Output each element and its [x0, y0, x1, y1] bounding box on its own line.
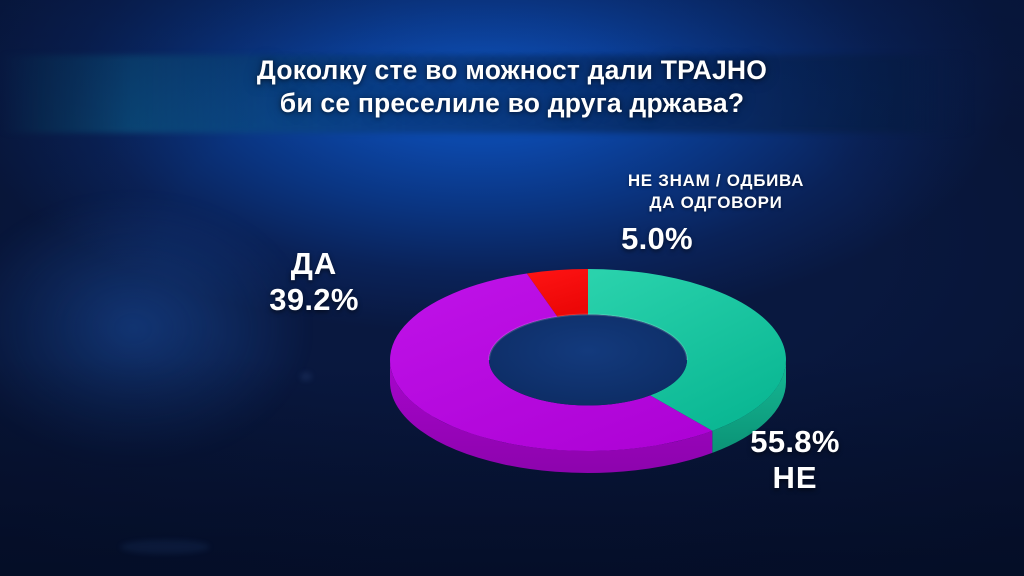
label-yes: ДА 39.2% [214, 246, 414, 318]
label-unknown: НЕ ЗНАМ / ОДБИВА ДА ОДГОВОРИ 5.0% [556, 170, 876, 257]
background-speck [300, 372, 312, 381]
label-yes-value: 39.2% [214, 282, 414, 318]
label-no: 55.8% НЕ [690, 424, 900, 496]
page-title-line-2: би се преселиле во друга држава? [0, 87, 1024, 120]
page-title: Доколку сте во можност дали ТРАЈНО би се… [0, 54, 1024, 120]
label-unknown-name-line-1: НЕ ЗНАМ / ОДБИВА [556, 170, 876, 192]
page-title-line-1: Доколку сте во можност дали ТРАЈНО [0, 54, 1024, 87]
label-unknown-name-line-2: ДА ОДГОВОРИ [556, 192, 876, 214]
label-no-name: НЕ [690, 460, 900, 496]
label-unknown-value: 5.0% [556, 221, 876, 257]
label-no-value: 55.8% [690, 424, 900, 460]
label-yes-name: ДА [214, 246, 414, 282]
background-speck [120, 540, 210, 554]
